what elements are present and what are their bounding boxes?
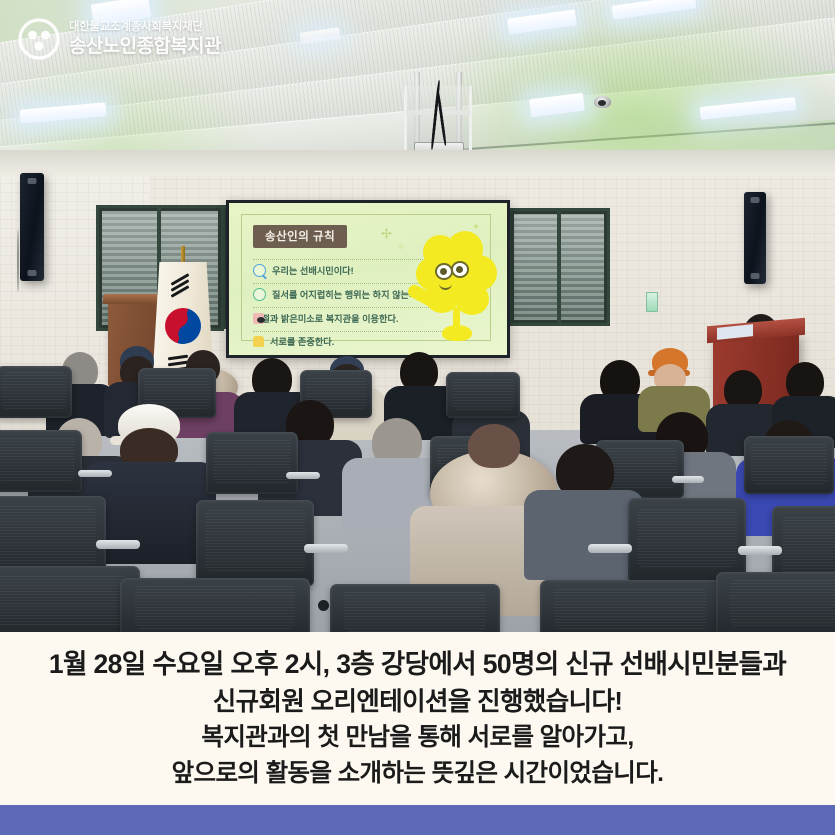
search-icon [253, 264, 266, 277]
auditorium-chair [0, 566, 140, 632]
auditorium-chair [446, 372, 520, 418]
auditorium-chair [330, 584, 500, 632]
audience-head [468, 424, 520, 468]
audience-body [524, 490, 644, 580]
caption-block: 1월 28일 수요일 오후 2시, 3층 강당에서 50명의 신규 선배시민분들… [0, 632, 835, 805]
auditorium-chair [196, 500, 314, 586]
slide-bullet-1: 우리는 선배시민이다! [253, 263, 354, 277]
dome-cctv-camera [594, 96, 611, 108]
slide-bullet-3: 친절과 밝은미소로 복지관을 이용한다. [253, 311, 398, 325]
camera-icon [253, 313, 264, 324]
auditorium-chair [206, 432, 298, 494]
sparkle-icon: ✧ [397, 243, 405, 253]
bottom-accent-bar [0, 805, 835, 835]
logo-foundation-name: 대한불교조계종사회복지재단 [69, 22, 221, 34]
right-wall-column-speaker [744, 192, 766, 284]
wall-valance [0, 150, 835, 176]
emergency-exit-sign [646, 292, 658, 312]
sparkle-icon: ✦ [472, 223, 480, 233]
auditorium-chair [716, 572, 835, 632]
auditorium-chair [744, 436, 834, 494]
left-wall-column-speaker [20, 173, 44, 281]
slide-bullet-text: 서로를 존중한다. [270, 334, 334, 348]
smile-face-icon [253, 288, 266, 301]
slide-bullet-4: 서로를 존중한다. [253, 334, 334, 348]
caption-line-4: 앞으로의 활동을 소개하는 뜻깊은 시간이었습니다. [172, 758, 664, 789]
auditorium-chair [0, 366, 72, 418]
auditorium-chair [120, 578, 310, 632]
auditorium-chair [628, 498, 746, 582]
organization-logo: 대한불교조계종사회복지재단 송산노인종합복지관 [18, 18, 221, 60]
sparkle-icon: ✢ [381, 227, 392, 240]
slide-bullet-2: 질서를 어지럽히는 행위는 하지 않는다. [253, 287, 420, 301]
bell-icon [253, 336, 264, 347]
projection-screen: 송산인의 규칙 우리는 선배시민이다! 질서를 어지럽히는 행위는 하지 않는다… [226, 200, 510, 358]
slide-bullet-text: 친절과 밝은미소로 복지관을 이용한다. [253, 311, 398, 325]
three-dot-circle-icon [18, 18, 60, 60]
logo-center-name: 송산노인종합복지관 [69, 37, 221, 56]
promo-card: 송산인의 규칙 우리는 선배시민이다! 질서를 어지럽히는 행위는 하지 않는다… [0, 0, 835, 835]
caption-line-3: 복지관과의 첫 만남을 통해 서로를 알아가고, [201, 722, 633, 753]
auditorium-chair [540, 580, 720, 632]
caption-line-1: 1월 28일 수요일 오후 2시, 3층 강당에서 50명의 신규 선배시민분들… [49, 648, 786, 682]
slide-title: 송산인의 규칙 [253, 225, 347, 248]
slide-bullet-text: 질서를 어지럽히는 행위는 하지 않는다. [272, 287, 420, 301]
window [508, 208, 610, 326]
yellow-flower-mascot [413, 233, 499, 349]
slide-bullet-text: 우리는 선배시민이다! [272, 263, 354, 277]
caption-line-2: 신규회원 오리엔테이션을 진행했습니다! [213, 686, 622, 719]
auditorium-chair [0, 430, 82, 492]
event-photo: 송산인의 규칙 우리는 선배시민이다! 질서를 어지럽히는 행위는 하지 않는다… [0, 0, 835, 632]
